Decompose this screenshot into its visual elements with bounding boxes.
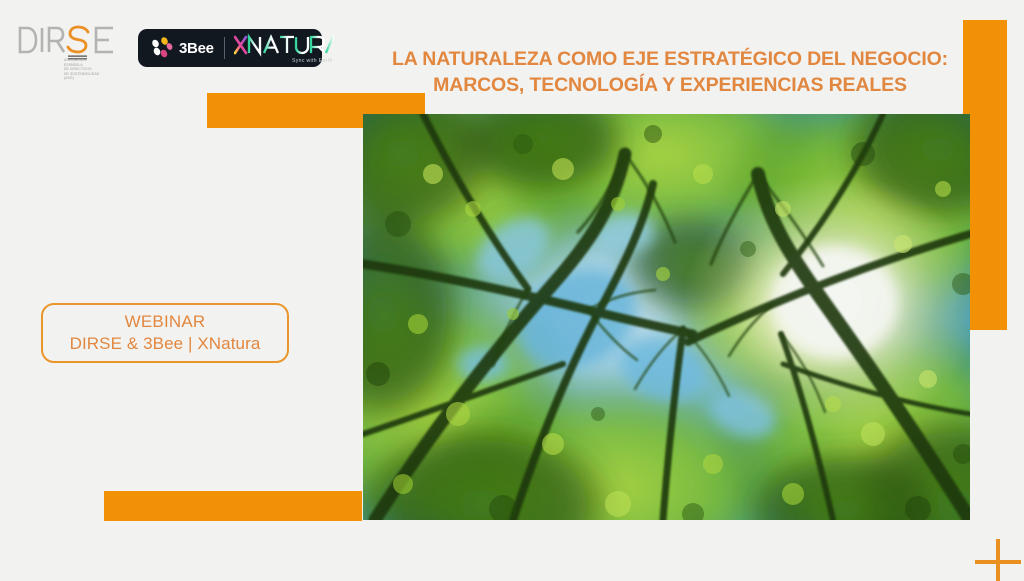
dirse-wordmark-icon [16,22,120,62]
slide-canvas: ASOCIACIÓN ESPAÑOLA DE DIRECTIVOS DE SOS… [0,0,1024,581]
badge-divider [224,37,225,59]
partner-logo-badge: 3Bee [138,29,322,67]
plus-mark-icon [973,537,1023,581]
plus-horizontal-stroke [975,560,1021,564]
dirse-logo-tagline: ASOCIACIÓN ESPAÑOLA DE DIRECTIVOS DE SOS… [64,58,120,81]
bee-dots-icon [150,36,176,60]
webinar-subtitle: DIRSE & 3Bee | XNatura [70,333,261,355]
title-line-1: LA NATURALEZA COMO EJE ESTRATÉGICO DEL N… [370,46,970,72]
webinar-callout: WEBINAR DIRSE & 3Bee | XNatura [41,303,289,363]
title-line-2: MARCOS, TECNOLOGÍA Y EXPERIENCIAS REALES [370,72,970,98]
page-title: LA NATURALEZA COMO EJE ESTRATÉGICO DEL N… [370,46,970,98]
dirse-logo: ASOCIACIÓN ESPAÑOLA DE DIRECTIVOS DE SOS… [16,22,120,90]
bee-wordmark: 3Bee [179,40,214,57]
webinar-label: WEBINAR [125,311,206,333]
xnatura-logo: Sync with Earth [234,33,334,63]
dirse-tagline-line: (ASG) [64,76,120,81]
forest-canopy-photo [363,114,970,520]
xnatura-tagline: Sync with Earth [292,58,333,64]
orange-bar-bottom [104,491,362,521]
